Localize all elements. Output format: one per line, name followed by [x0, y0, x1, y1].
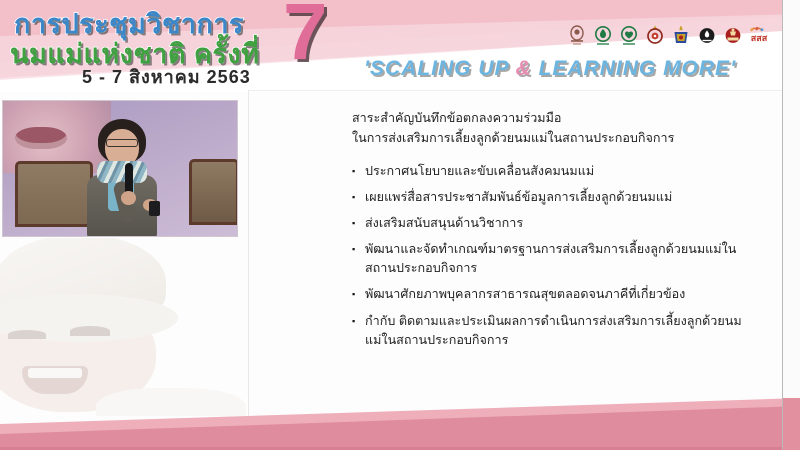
- svg-text:สสส: สสส: [751, 34, 768, 44]
- speaker-video-feed[interactable]: [2, 100, 238, 237]
- list-item: ▪ เผยแพร่สื่อสารประชาสัมพันธ์ข้อมูลการเล…: [352, 188, 752, 207]
- list-item-label: พัฒนาและจัดทำเกณฑ์มาตรฐานการส่งเสริมการเ…: [365, 240, 752, 278]
- tagline-left-text: 'SCALING UP: [364, 57, 516, 80]
- event-tagline: 'SCALING UP & LEARNING MORE': [364, 57, 736, 81]
- ministry-public-health-logo: [592, 24, 614, 48]
- footer-pink-band: [0, 398, 800, 450]
- content-left-divider: [248, 90, 249, 426]
- event-date-range: 5 - 7 สิงหาคม 2563: [82, 62, 251, 91]
- speaker-glasses: [106, 139, 138, 147]
- bullet-square-icon: ▪: [352, 285, 365, 304]
- child-teeth: [28, 368, 82, 378]
- list-item-label: พัฒนาศักยภาพบุคลากรสาธารณสุขตลอดจนภาคีที…: [365, 285, 685, 304]
- list-item: ▪ กำกับ ติดตามและประเมินผลการดำเนินการส่…: [352, 312, 752, 350]
- right-margin-fill-footer: [783, 398, 800, 450]
- right-margin-fill: [783, 0, 800, 450]
- tagline-right-text: LEARNING MORE': [532, 57, 736, 80]
- slide-stage: การประชุมวิชาการ นมแม่แห่งชาติ ครั้งที่ …: [0, 0, 800, 450]
- bullet-square-icon: ▪: [352, 312, 365, 331]
- slide-content: สาระสำคัญบันทึกข้อตกลงความร่วมมือ ในการส…: [352, 108, 752, 357]
- bullet-square-icon: ▪: [352, 188, 365, 207]
- list-item-label: เผยแพร่สื่อสารประชาสัมพันธ์ข้อมูลการเลี้…: [365, 188, 672, 207]
- tagline-ampersand: &: [516, 57, 532, 80]
- list-item: ▪ ประกาศนโยบายและขับเคลื่อนสังคมนมแม่: [352, 162, 752, 181]
- slide-heading-line1: สาระสำคัญบันทึกข้อตกลงความร่วมมือ: [352, 108, 752, 128]
- child-eye-left: [8, 330, 46, 339]
- child-eye-right: [70, 326, 110, 336]
- slide-heading-line2: ในการส่งเสริมการเลี้ยงลูกด้วยนมแม่ในสถาน…: [352, 128, 752, 148]
- smiling-child-watermark: [0, 238, 250, 416]
- bullet-square-icon: ▪: [352, 214, 365, 233]
- content-top-divider: [248, 90, 782, 91]
- red-crest-logo: [722, 24, 744, 48]
- presenter-remote: [149, 201, 160, 216]
- list-item-label: ประกาศนโยบายและขับเคลื่อนสังคมนมแม่: [365, 162, 594, 181]
- royal-crest-red-logo: [644, 24, 666, 48]
- thai-breastfeeding-center-logo: [618, 24, 640, 48]
- list-item-label: ส่งเสริมสนับสนุนด้านวิชาการ: [365, 214, 523, 233]
- list-item-label: กำกับ ติดตามและประเมินผลการดำเนินการส่งเ…: [365, 312, 752, 350]
- event-banner: การประชุมวิชาการ นมแม่แห่งชาติ ครั้งที่ …: [0, 0, 800, 92]
- speaker-scarf: [97, 161, 147, 183]
- list-item: ▪ ส่งเสริมสนับสนุนด้านวิชาการ: [352, 214, 752, 233]
- bullet-square-icon: ▪: [352, 162, 365, 181]
- sponsor-logo-strip: สสส: [566, 24, 770, 48]
- black-circle-institution-logo: [696, 24, 718, 48]
- speaker-hand-holding-mic: [121, 191, 136, 205]
- chair-right: [189, 159, 238, 225]
- slide-bullet-list: ▪ ประกาศนโยบายและขับเคลื่อนสังคมนมแม่ ▪ …: [352, 162, 752, 350]
- speaker-figure: [81, 119, 163, 237]
- thaihealth-sss-logo: สสส: [748, 24, 770, 48]
- event-edition-number: 7: [283, 0, 328, 72]
- list-item: ▪ พัฒนาและจัดทำเกณฑ์มาตรฐานการส่งเสริมกา…: [352, 240, 752, 278]
- right-frame-border: [782, 0, 783, 450]
- thai-royal-emblem-logo: [670, 24, 692, 48]
- list-item: ▪ พัฒนาศักยภาพบุคลากรสาธารณสุขตลอดจนภาคี…: [352, 285, 752, 304]
- royal-seal-logo: [566, 24, 588, 48]
- bullet-square-icon: ▪: [352, 240, 365, 259]
